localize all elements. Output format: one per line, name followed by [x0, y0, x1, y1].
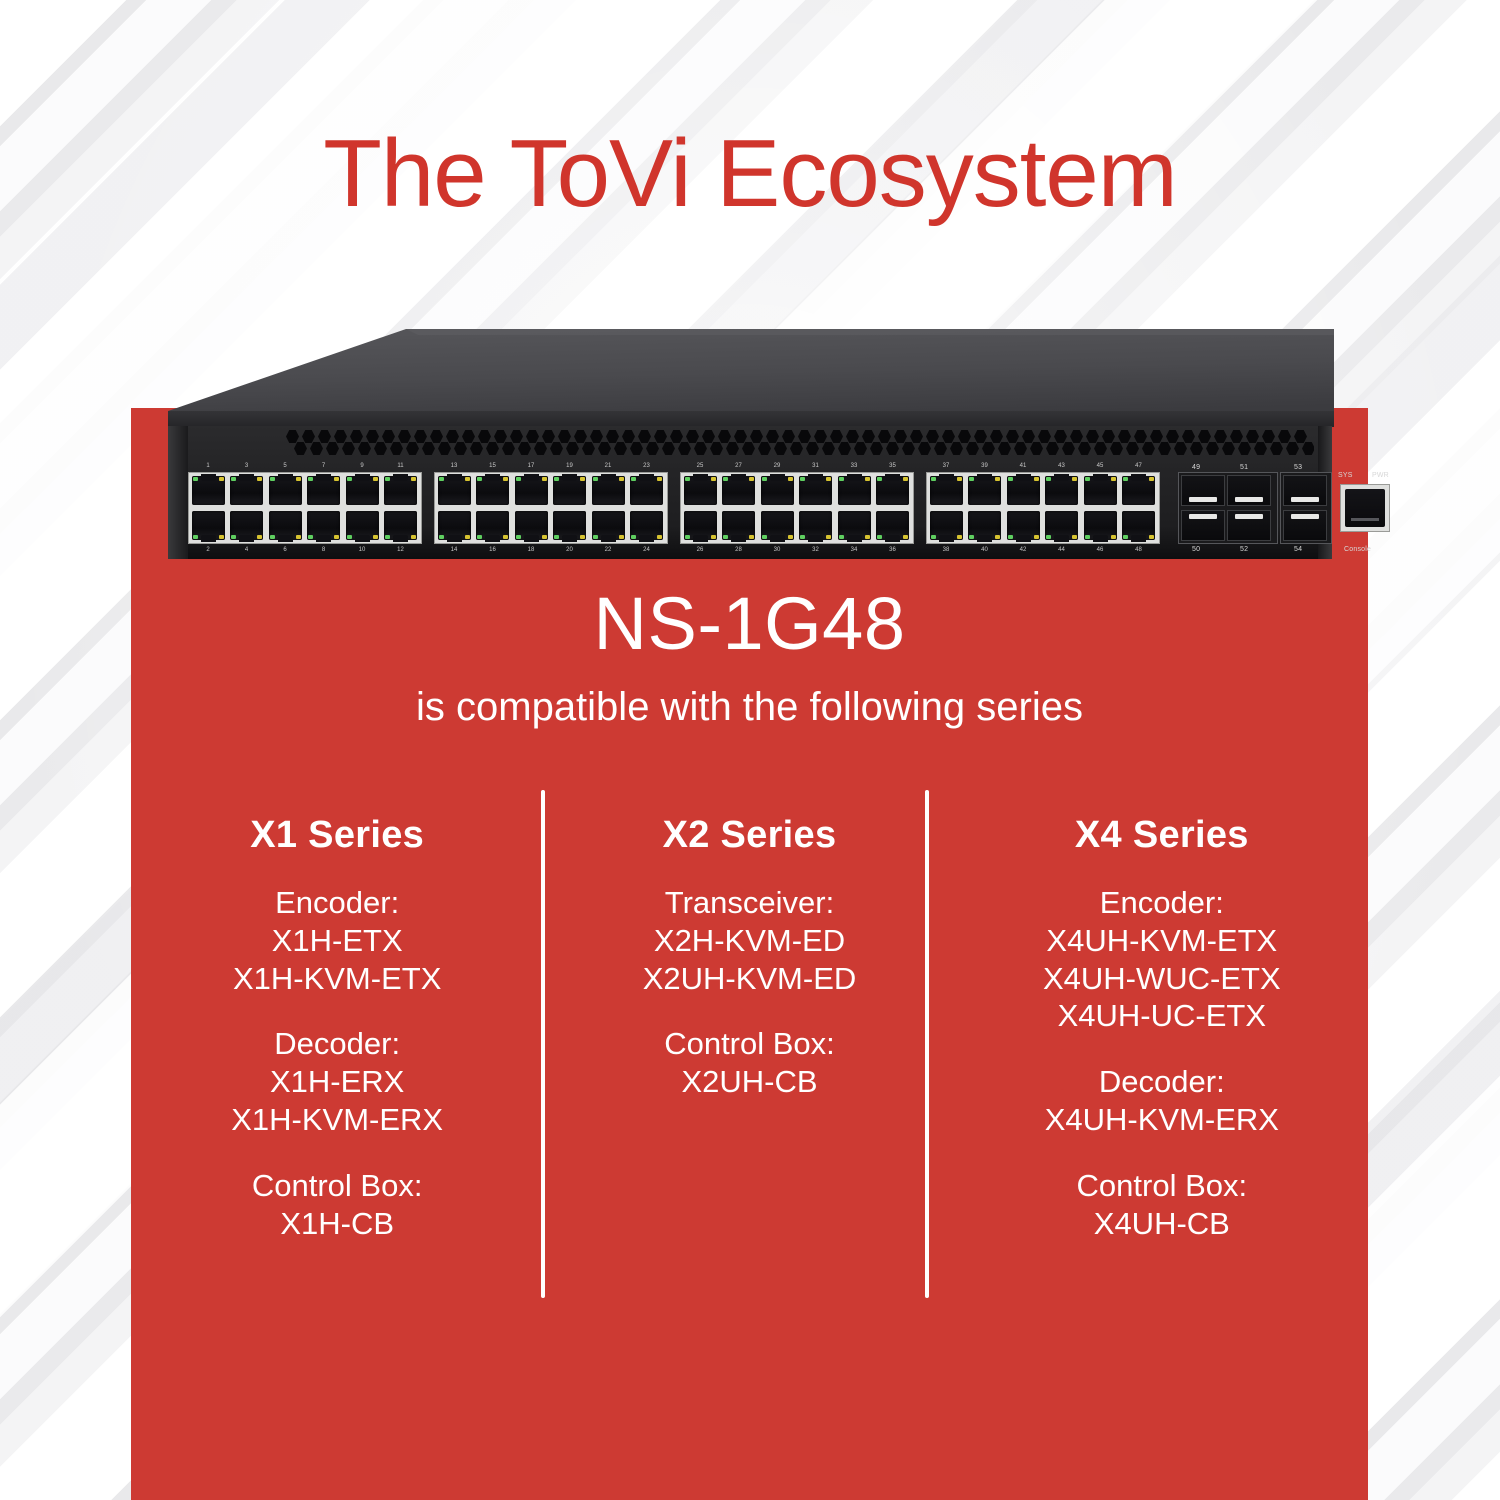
product-group: Decoder:X1H-ERXX1H-KVM-ERX [131, 1025, 543, 1138]
port-led-amber [788, 535, 793, 539]
vent-hole [550, 442, 563, 455]
vent-hole [902, 442, 915, 455]
rj45-port[interactable] [515, 476, 548, 505]
vent-hole [1206, 442, 1219, 455]
series-column: X4 SeriesEncoder:X4UH-KVM-ETXX4UH-WUC-ET… [956, 790, 1368, 1300]
vent-hole [534, 442, 547, 455]
product-name: NS-1G48 [131, 587, 1368, 661]
sfp-latch [1235, 497, 1263, 502]
port-led-amber [995, 477, 1000, 481]
rj45-port-pair[interactable] [758, 473, 797, 543]
rj45-port[interactable] [269, 476, 302, 505]
vent-hole [1174, 442, 1187, 455]
poster-canvas: The ToVi Ecosystem [0, 0, 1500, 1500]
port-led-green [877, 477, 882, 481]
rj45-port-block [188, 472, 422, 544]
rj45-port-pair[interactable] [720, 473, 759, 543]
vent-hole [390, 442, 403, 455]
product-model: X1H-ETX [131, 922, 543, 960]
port-led-green [308, 477, 313, 481]
rj45-port[interactable] [553, 511, 586, 540]
port-led-amber [619, 477, 624, 481]
rj45-port-number: 36 [883, 547, 903, 553]
vent-hole [662, 442, 675, 455]
vent-hole [1286, 442, 1299, 455]
rj45-port-number: 30 [767, 547, 787, 553]
rj45-port[interactable] [384, 476, 417, 505]
vent-hole [342, 442, 355, 455]
sys-led-label: SYS [1338, 472, 1353, 479]
sfp-port[interactable]: ▲▼ [1181, 475, 1225, 506]
rj45-port-pair[interactable] [1120, 473, 1159, 543]
rj45-port-pair[interactable] [382, 473, 421, 543]
rj45-port[interactable] [838, 476, 871, 505]
port-led-green [877, 535, 882, 539]
port-led-green [800, 535, 805, 539]
rj45-port[interactable] [1122, 511, 1155, 540]
rj45-port-number: 7 [314, 463, 334, 469]
vent-hole [998, 442, 1011, 455]
port-led-amber [957, 535, 962, 539]
rj45-port-block [680, 472, 914, 544]
rj45-port-number: 15 [483, 463, 503, 469]
port-led-green [931, 477, 936, 481]
port-led-green [308, 535, 313, 539]
device-top-chassis [166, 327, 1334, 439]
vent-hole [1110, 442, 1123, 455]
rj45-port[interactable] [592, 476, 625, 505]
product-model: X1H-KVM-ERX [131, 1101, 543, 1139]
port-led-amber [711, 535, 716, 539]
rj45-port-pair[interactable] [1081, 473, 1120, 543]
vent-hole [678, 442, 691, 455]
rj45-port-pair[interactable] [681, 473, 720, 543]
vent-hole [1270, 442, 1283, 455]
product-model: X2H-KVM-ED [543, 922, 955, 960]
port-led-green [1046, 477, 1051, 481]
series-column: X1 SeriesEncoder:X1H-ETXX1H-KVM-ETXDecod… [131, 790, 543, 1300]
rj45-port[interactable] [438, 511, 471, 540]
vent-hole [886, 442, 899, 455]
rj45-port-number: 23 [637, 463, 657, 469]
rj45-port-block [434, 472, 668, 544]
rj45-port-number: 37 [936, 463, 956, 469]
rj45-port[interactable] [346, 476, 379, 505]
vent-hole [614, 442, 627, 455]
rj45-port-pair[interactable] [343, 473, 382, 543]
port-led-amber [296, 477, 301, 481]
port-led-amber [580, 477, 585, 481]
rj45-port[interactable] [515, 511, 548, 540]
rj45-port[interactable] [307, 476, 340, 505]
rj45-port[interactable] [761, 511, 794, 540]
port-led-green [631, 535, 636, 539]
rj45-port-pair[interactable] [266, 473, 305, 543]
vent-hole [582, 442, 595, 455]
port-led-green [1123, 535, 1128, 539]
console-jack[interactable] [1345, 489, 1385, 527]
series-column: X2 SeriesTransceiver:X2H-KVM-EDX2UH-KVM-… [543, 790, 955, 1300]
port-led-amber [865, 477, 870, 481]
rj45-port-number: 8 [314, 547, 334, 553]
rj45-port-number: 2 [198, 547, 218, 553]
port-led-green [477, 477, 482, 481]
port-led-green [593, 535, 598, 539]
rj45-port-number: 47 [1129, 463, 1149, 469]
rj45-port[interactable] [1084, 476, 1117, 505]
rj45-port-number: 28 [729, 547, 749, 553]
vent-hole [758, 442, 771, 455]
rj45-port-number: 21 [598, 463, 618, 469]
port-led-amber [711, 477, 716, 481]
rj45-port[interactable] [799, 476, 832, 505]
sfp-port[interactable] [1227, 510, 1271, 541]
rj45-port-number: 11 [391, 463, 411, 469]
device-top-shape [166, 327, 1334, 439]
sfp-latch [1235, 514, 1263, 519]
port-led-amber [1149, 535, 1154, 539]
rj45-port-number: 27 [729, 463, 749, 469]
product-group-label: Decoder: [131, 1025, 543, 1063]
rj45-port-pair[interactable] [228, 473, 267, 543]
rj45-port-number: 33 [844, 463, 864, 469]
rj45-port[interactable] [1084, 511, 1117, 540]
rj45-port-number: 32 [806, 547, 826, 553]
rj45-port[interactable] [799, 511, 832, 540]
rj45-port-number: 1 [198, 463, 218, 469]
rj45-port[interactable] [968, 511, 1001, 540]
sfp-port[interactable] [1283, 510, 1327, 541]
port-led-amber [542, 535, 547, 539]
rj45-port[interactable] [876, 476, 909, 505]
rj45-port-pair[interactable] [589, 473, 628, 543]
port-led-green [439, 477, 444, 481]
port-led-amber [1111, 535, 1116, 539]
sfp-port-number: 53 [1294, 464, 1302, 471]
vent-hole [870, 442, 883, 455]
console-port[interactable] [1340, 484, 1390, 532]
port-led-green [931, 535, 936, 539]
product-group-label: Control Box: [131, 1167, 543, 1205]
rj45-port[interactable] [592, 511, 625, 540]
port-led-amber [411, 477, 416, 481]
rj45-port[interactable] [930, 511, 963, 540]
series-columns: X1 SeriesEncoder:X1H-ETXX1H-KVM-ETXDecod… [131, 790, 1368, 1300]
rj45-port[interactable] [761, 476, 794, 505]
port-led-green [270, 477, 275, 481]
vent-hole [854, 442, 867, 455]
rj45-port[interactable] [684, 476, 717, 505]
vent-hole [1222, 442, 1235, 455]
vent-hole [518, 442, 531, 455]
product-group-label: Control Box: [543, 1025, 955, 1063]
port-led-green [685, 535, 690, 539]
vent-hole [646, 442, 659, 455]
vent-hole [934, 442, 947, 455]
port-led-green [231, 477, 236, 481]
series-column-heading: X4 Series [956, 816, 1368, 854]
rj45-port-number: 17 [521, 463, 541, 469]
port-led-green [516, 477, 521, 481]
vent-hole [1094, 442, 1107, 455]
series-column-heading: X1 Series [131, 816, 543, 854]
product-group-label: Decoder: [956, 1063, 1368, 1101]
vent-hole [630, 442, 643, 455]
rj45-port[interactable] [876, 511, 909, 540]
rj45-port-number: 45 [1090, 463, 1110, 469]
port-led-amber [257, 535, 262, 539]
port-led-green [477, 535, 482, 539]
vent-hole [838, 442, 851, 455]
rj45-port-number: 3 [237, 463, 257, 469]
port-led-green [723, 535, 728, 539]
port-led-amber [373, 535, 378, 539]
sfp-port[interactable] [1181, 510, 1225, 541]
vent-hole [710, 442, 723, 455]
port-led-green [1085, 477, 1090, 481]
vent-hole [454, 442, 467, 455]
product-group-label: Control Box: [956, 1167, 1368, 1205]
port-led-green [800, 477, 805, 481]
rj45-port[interactable] [230, 511, 263, 540]
rj45-port-pair[interactable] [1004, 473, 1043, 543]
rj45-port[interactable] [1122, 476, 1155, 505]
rj45-port[interactable] [1045, 511, 1078, 540]
ventilation-grille [286, 430, 1314, 458]
vent-hole [1126, 442, 1139, 455]
vent-hole [774, 442, 787, 455]
rj45-port-number: 26 [690, 547, 710, 553]
rj45-port-number: 5 [275, 463, 295, 469]
rj45-port[interactable] [630, 511, 663, 540]
rj45-port-number: 39 [975, 463, 995, 469]
rj45-port-number: 43 [1052, 463, 1072, 469]
rj45-port-pair[interactable] [966, 473, 1005, 543]
rj45-port[interactable] [930, 476, 963, 505]
port-led-amber [657, 535, 662, 539]
vent-hole [486, 442, 499, 455]
rj45-port-pair[interactable] [189, 473, 228, 543]
rj45-port-number: 25 [690, 463, 710, 469]
rj45-port[interactable] [192, 511, 225, 540]
product-group-label: Encoder: [131, 884, 543, 922]
port-led-green [685, 477, 690, 481]
rj45-port-pair[interactable] [551, 473, 590, 543]
vent-hole [1158, 442, 1171, 455]
sfp-port-cage: ▲▼▲▼ [1178, 472, 1278, 544]
sfp-latch [1291, 514, 1319, 519]
port-led-amber [865, 535, 870, 539]
rj45-port-number: 13 [444, 463, 464, 469]
product-subtitle: is compatible with the following series [131, 683, 1368, 731]
rj45-port[interactable] [722, 476, 755, 505]
port-led-green [593, 477, 598, 481]
vent-hole [438, 442, 451, 455]
rj45-port-pair[interactable] [927, 473, 966, 543]
port-led-green [1085, 535, 1090, 539]
page-title: The ToVi Ecosystem [0, 126, 1500, 222]
rj45-port[interactable] [346, 511, 379, 540]
console-port-label: Console [1344, 546, 1371, 553]
port-led-green [270, 535, 275, 539]
sfp-port-column: ▲▼ [1181, 475, 1225, 541]
port-led-amber [411, 535, 416, 539]
port-led-amber [373, 477, 378, 481]
port-led-amber [826, 535, 831, 539]
rj45-port[interactable] [192, 476, 225, 505]
vent-hole [374, 442, 387, 455]
port-led-green [193, 477, 198, 481]
sfp-port-column: ▲▼ [1283, 475, 1327, 541]
port-led-amber [503, 535, 508, 539]
product-group: Transceiver:X2H-KVM-EDX2UH-KVM-ED [543, 884, 955, 997]
sfp-port-number: 49 [1192, 464, 1200, 471]
rj45-port[interactable] [1007, 511, 1040, 540]
port-led-amber [465, 477, 470, 481]
vent-hole [790, 442, 803, 455]
port-led-green [385, 535, 390, 539]
rj45-port-number: 16 [483, 547, 503, 553]
rj45-port[interactable] [476, 511, 509, 540]
vent-hole [1078, 442, 1091, 455]
port-led-green [516, 535, 521, 539]
rj45-port[interactable] [722, 511, 755, 540]
vent-hole [918, 442, 931, 455]
port-led-amber [219, 477, 224, 481]
vent-hole [950, 442, 963, 455]
vent-hole [470, 442, 483, 455]
port-led-amber [542, 477, 547, 481]
vent-hole [502, 442, 515, 455]
sfp-port[interactable]: ▲▼ [1283, 475, 1327, 506]
vent-hole [982, 442, 995, 455]
port-led-green [839, 535, 844, 539]
rj45-port-number: 31 [806, 463, 826, 469]
port-led-amber [503, 477, 508, 481]
port-led-green [193, 535, 198, 539]
rj45-port-number: 18 [521, 547, 541, 553]
product-model: X2UH-KVM-ED [543, 960, 955, 998]
rj45-port-pair[interactable] [874, 473, 913, 543]
sfp-port[interactable]: ▲▼ [1227, 475, 1271, 506]
rj45-port-number: 44 [1052, 547, 1072, 553]
port-led-green [631, 477, 636, 481]
port-led-green [1123, 477, 1128, 481]
vent-hole [726, 442, 739, 455]
rj45-port[interactable] [476, 476, 509, 505]
product-group: Control Box:X4UH-CB [956, 1167, 1368, 1243]
product-model: X1H-CB [131, 1205, 543, 1243]
vent-hole [1014, 442, 1027, 455]
rj45-port-number: 22 [598, 547, 618, 553]
rj45-port-number: 41 [1013, 463, 1033, 469]
vent-hole [806, 442, 819, 455]
rj45-port-pair[interactable] [305, 473, 344, 543]
rj45-port-pair[interactable] [474, 473, 513, 543]
rj45-port[interactable] [230, 476, 263, 505]
rj45-port-number: 19 [560, 463, 580, 469]
rj45-port-pair[interactable] [1043, 473, 1082, 543]
port-led-green [762, 477, 767, 481]
vent-hole [422, 442, 435, 455]
port-led-amber [1111, 477, 1116, 481]
port-led-green [762, 535, 767, 539]
rj45-port[interactable] [1045, 476, 1078, 505]
vent-hole [598, 442, 611, 455]
product-group: Encoder:X4UH-KVM-ETXX4UH-WUC-ETXX4UH-UC-… [956, 884, 1368, 1035]
product-model: X4UH-CB [956, 1205, 1368, 1243]
port-led-amber [1034, 535, 1039, 539]
vent-hole [406, 442, 419, 455]
port-led-amber [465, 535, 470, 539]
port-led-green [1008, 535, 1013, 539]
port-led-green [231, 535, 236, 539]
vent-hole [1238, 442, 1251, 455]
rj45-port-number: 35 [883, 463, 903, 469]
rj45-port-number: 29 [767, 463, 787, 469]
port-led-green [439, 535, 444, 539]
port-led-amber [903, 535, 908, 539]
device-left-bezel [168, 426, 188, 559]
rj45-port-number: 9 [352, 463, 372, 469]
rj45-port-pair[interactable] [835, 473, 874, 543]
pwr-led-label: PWR [1372, 472, 1389, 479]
sfp-latch [1189, 497, 1217, 502]
port-led-amber [1072, 477, 1077, 481]
vent-hole [1142, 442, 1155, 455]
port-led-amber [749, 535, 754, 539]
sfp-port-cage: ▲▼ [1280, 472, 1332, 544]
rj45-port[interactable] [968, 476, 1001, 505]
port-led-green [969, 477, 974, 481]
rj45-port[interactable] [384, 511, 417, 540]
product-model: X4UH-WUC-ETX [956, 960, 1368, 998]
rj45-port-pair[interactable] [797, 473, 836, 543]
rj45-port[interactable] [684, 511, 717, 540]
port-led-green [554, 535, 559, 539]
port-led-green [839, 477, 844, 481]
vent-hole [358, 442, 371, 455]
vent-hole [326, 442, 339, 455]
rj45-port-pair[interactable] [628, 473, 667, 543]
sfp-latch [1291, 497, 1319, 502]
rj45-port[interactable] [1007, 476, 1040, 505]
product-model: X1H-ERX [131, 1063, 543, 1101]
vent-hole [1046, 442, 1059, 455]
rj45-port[interactable] [307, 511, 340, 540]
rj45-port-pair[interactable] [512, 473, 551, 543]
rj45-port[interactable] [630, 476, 663, 505]
rj45-port[interactable] [838, 511, 871, 540]
rj45-port[interactable] [269, 511, 302, 540]
port-led-amber [788, 477, 793, 481]
port-led-amber [296, 535, 301, 539]
vent-hole [822, 442, 835, 455]
sfp-port-column: ▲▼ [1227, 475, 1271, 541]
device-front-face: 1234567891011121314151617181920212223242… [168, 426, 1332, 559]
port-led-amber [580, 535, 585, 539]
product-model: X1H-KVM-ETX [131, 960, 543, 998]
port-led-amber [995, 535, 1000, 539]
port-led-amber [657, 477, 662, 481]
rj45-port[interactable] [553, 476, 586, 505]
rj45-port-number: 24 [637, 547, 657, 553]
product-group: Control Box:X1H-CB [131, 1167, 543, 1243]
vent-hole [966, 442, 979, 455]
rj45-port[interactable] [438, 476, 471, 505]
rj45-port-number: 38 [936, 547, 956, 553]
rj45-port-pair[interactable] [435, 473, 474, 543]
